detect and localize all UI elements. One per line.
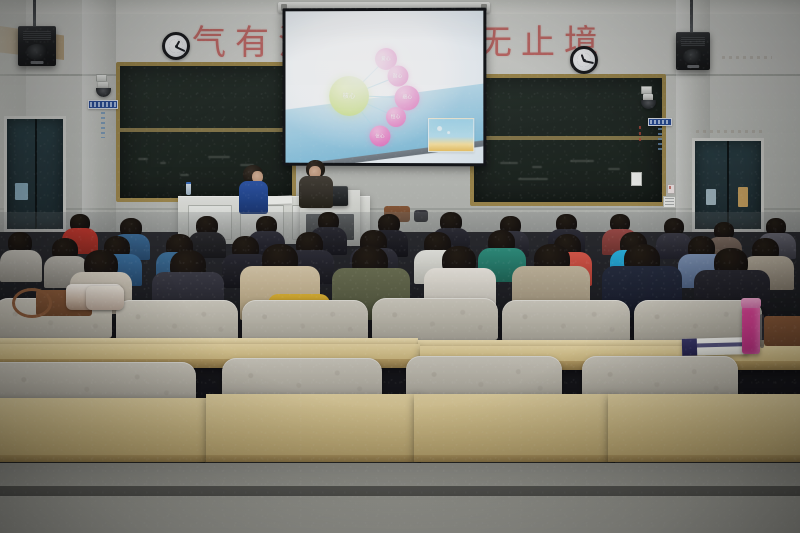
- desk-bag-right: [764, 316, 800, 346]
- folding-seat-back[interactable]: [116, 300, 238, 342]
- mind-map-leaf-node-5: 信心: [370, 126, 391, 147]
- projection-screen: 核心 爱心 耐心 细心 恒心 信心: [283, 8, 487, 167]
- wall-socket-left: [96, 74, 107, 82]
- seat-texture: [116, 300, 238, 342]
- lecture-desk-front-3: [414, 394, 614, 464]
- floor: [0, 463, 800, 533]
- handbag-strap: [12, 288, 52, 318]
- folding-seat-back[interactable]: [502, 300, 630, 342]
- wall-notice-white: [631, 172, 642, 186]
- speaker-grille: [681, 37, 706, 46]
- lecture-desk-front-2: [206, 394, 421, 464]
- placard-text: [90, 102, 116, 107]
- folding-seat-back[interactable]: [242, 300, 368, 342]
- notebook-band: [697, 342, 748, 347]
- floor-shadow: [0, 486, 800, 496]
- door-window-plate: [706, 189, 716, 205]
- left-blackboard: [116, 62, 296, 202]
- chalk-mark: [518, 178, 548, 180]
- folding-seat-back[interactable]: [372, 298, 498, 340]
- ceiling-speaker-right: [676, 32, 710, 70]
- ceiling-speaker-left: [18, 26, 56, 66]
- thumbnail-dot: [447, 131, 450, 134]
- seat-texture: [372, 298, 498, 340]
- wall-notice-red: [667, 184, 675, 194]
- blue-placard-right: [648, 118, 672, 126]
- chalk-mark: [180, 174, 189, 176]
- vertical-sign-right: [658, 128, 662, 150]
- notebook-spine: [682, 338, 697, 355]
- mind-map-leaf-node-2: 耐心: [387, 66, 408, 87]
- door-window-plate: [15, 183, 28, 200]
- mind-map-leaf-node-4: 恒心: [386, 107, 406, 127]
- notebook: [682, 337, 748, 356]
- presentation-slide: 核心 爱心 耐心 细心 恒心 信心: [285, 11, 483, 164]
- chalk-mark: [532, 166, 542, 168]
- placard-text: [650, 120, 670, 124]
- speaker-woofer: [26, 44, 49, 60]
- presenter-torso: [239, 181, 268, 214]
- wall-red-marking: [639, 126, 641, 142]
- blackboard-rail: [474, 136, 662, 140]
- speaker-woofer: [683, 49, 703, 64]
- speaker-mount-rod: [33, 0, 36, 26]
- speaker-badge: [687, 65, 699, 68]
- wall-faint-text-lower: [696, 130, 762, 133]
- chalk-mark: [500, 162, 518, 164]
- chalk-mark: [138, 158, 148, 160]
- lecture-desk-front-1: [0, 398, 214, 464]
- lecture-desk-front-4: [608, 394, 800, 464]
- thumbnail-dot: [437, 126, 442, 131]
- wall-clock-left: [162, 32, 190, 60]
- chalk-mark: [608, 168, 620, 170]
- clock-center-pin: [175, 45, 178, 48]
- mind-map-center-node: 核心: [329, 76, 369, 116]
- door-notice-plate: [738, 187, 748, 207]
- slide-image-thumbnail: [428, 118, 474, 152]
- chalk-mark: [208, 156, 230, 158]
- wall-notice-lines: [663, 196, 676, 208]
- right-blackboard: [470, 74, 666, 206]
- speaker-mount-rod: [690, 0, 693, 32]
- desk-water-bottle: [186, 182, 191, 195]
- blackboard-rail: [120, 128, 292, 132]
- wall-socket-right: [641, 86, 652, 94]
- vertical-sign-left: [101, 112, 105, 138]
- lecture-hall-photo: 气有浩 无止境: [0, 0, 800, 533]
- chalk-mark: [570, 160, 594, 162]
- wall-pillar-left: [82, 0, 116, 232]
- student-torso-grey: [0, 250, 42, 282]
- speaker-badge: [31, 61, 44, 64]
- water-bottle: [742, 306, 760, 354]
- clock-center-pin: [583, 59, 586, 62]
- chalk-mark: [160, 162, 166, 164]
- sneakers: [86, 286, 124, 310]
- seat-texture: [502, 300, 630, 342]
- speaker-grille: [23, 31, 50, 41]
- wall-clock-right: [570, 46, 598, 74]
- wall-faint-text-upper: [722, 56, 772, 59]
- presenter-torso: [299, 176, 333, 208]
- blue-placard-left: [88, 100, 118, 109]
- bottle-cap: [741, 298, 761, 308]
- seat-texture: [242, 300, 368, 342]
